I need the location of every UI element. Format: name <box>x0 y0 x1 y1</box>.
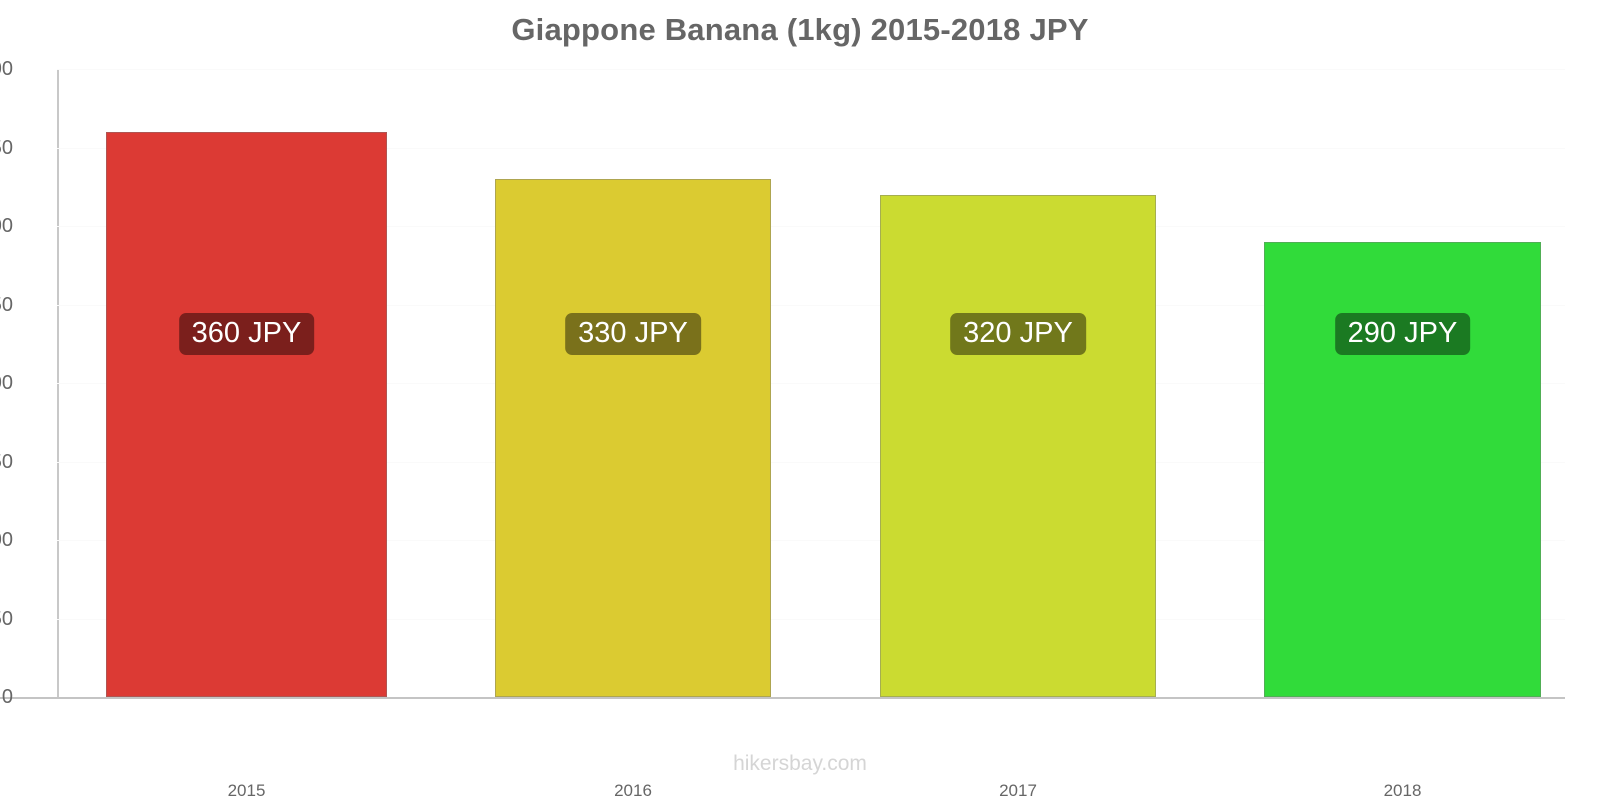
x-axis-tick-label: 2015 <box>228 781 266 801</box>
chart-title: Giappone Banana (1kg) 2015-2018 JPY <box>0 8 1600 52</box>
bar-value-label: 290 JPY <box>1335 313 1471 355</box>
y-axis-tick-label: 100 <box>0 529 13 552</box>
bar[interactable]: 330 JPY <box>495 179 771 697</box>
x-axis-line <box>0 697 1565 699</box>
bar-value-label: 330 JPY <box>565 313 701 355</box>
y-axis-tick-label: 50 <box>0 608 13 631</box>
y-axis-tick-label: 250 <box>0 294 13 317</box>
bar-chart: Giappone Banana (1kg) 2015-2018 JPY 0501… <box>0 0 1600 800</box>
x-axis-tick-label: 2016 <box>614 781 652 801</box>
bar[interactable]: 320 JPY <box>880 195 1156 697</box>
y-axis-tick-label: 150 <box>0 451 13 474</box>
y-axis-tick-label: 350 <box>0 137 13 160</box>
gridline <box>57 69 1565 70</box>
bar[interactable]: 360 JPY <box>106 132 387 697</box>
x-axis-tick-label: 2017 <box>999 781 1037 801</box>
source-watermark: hikersbay.com <box>0 752 1600 776</box>
bar-value-label: 320 JPY <box>950 313 1086 355</box>
bar-value-label: 360 JPY <box>179 313 315 355</box>
y-axis-tick-label: 300 <box>0 215 13 238</box>
x-axis-tick-label: 2018 <box>1384 781 1422 801</box>
y-axis-tick-label: 200 <box>0 372 13 395</box>
y-axis-tick-label: 400 <box>0 58 13 81</box>
plot-area: 050100150200250300350400360 JPY2015330 J… <box>57 69 1565 697</box>
y-axis-tick-label: 0 <box>0 686 13 709</box>
bar[interactable]: 290 JPY <box>1264 242 1541 697</box>
